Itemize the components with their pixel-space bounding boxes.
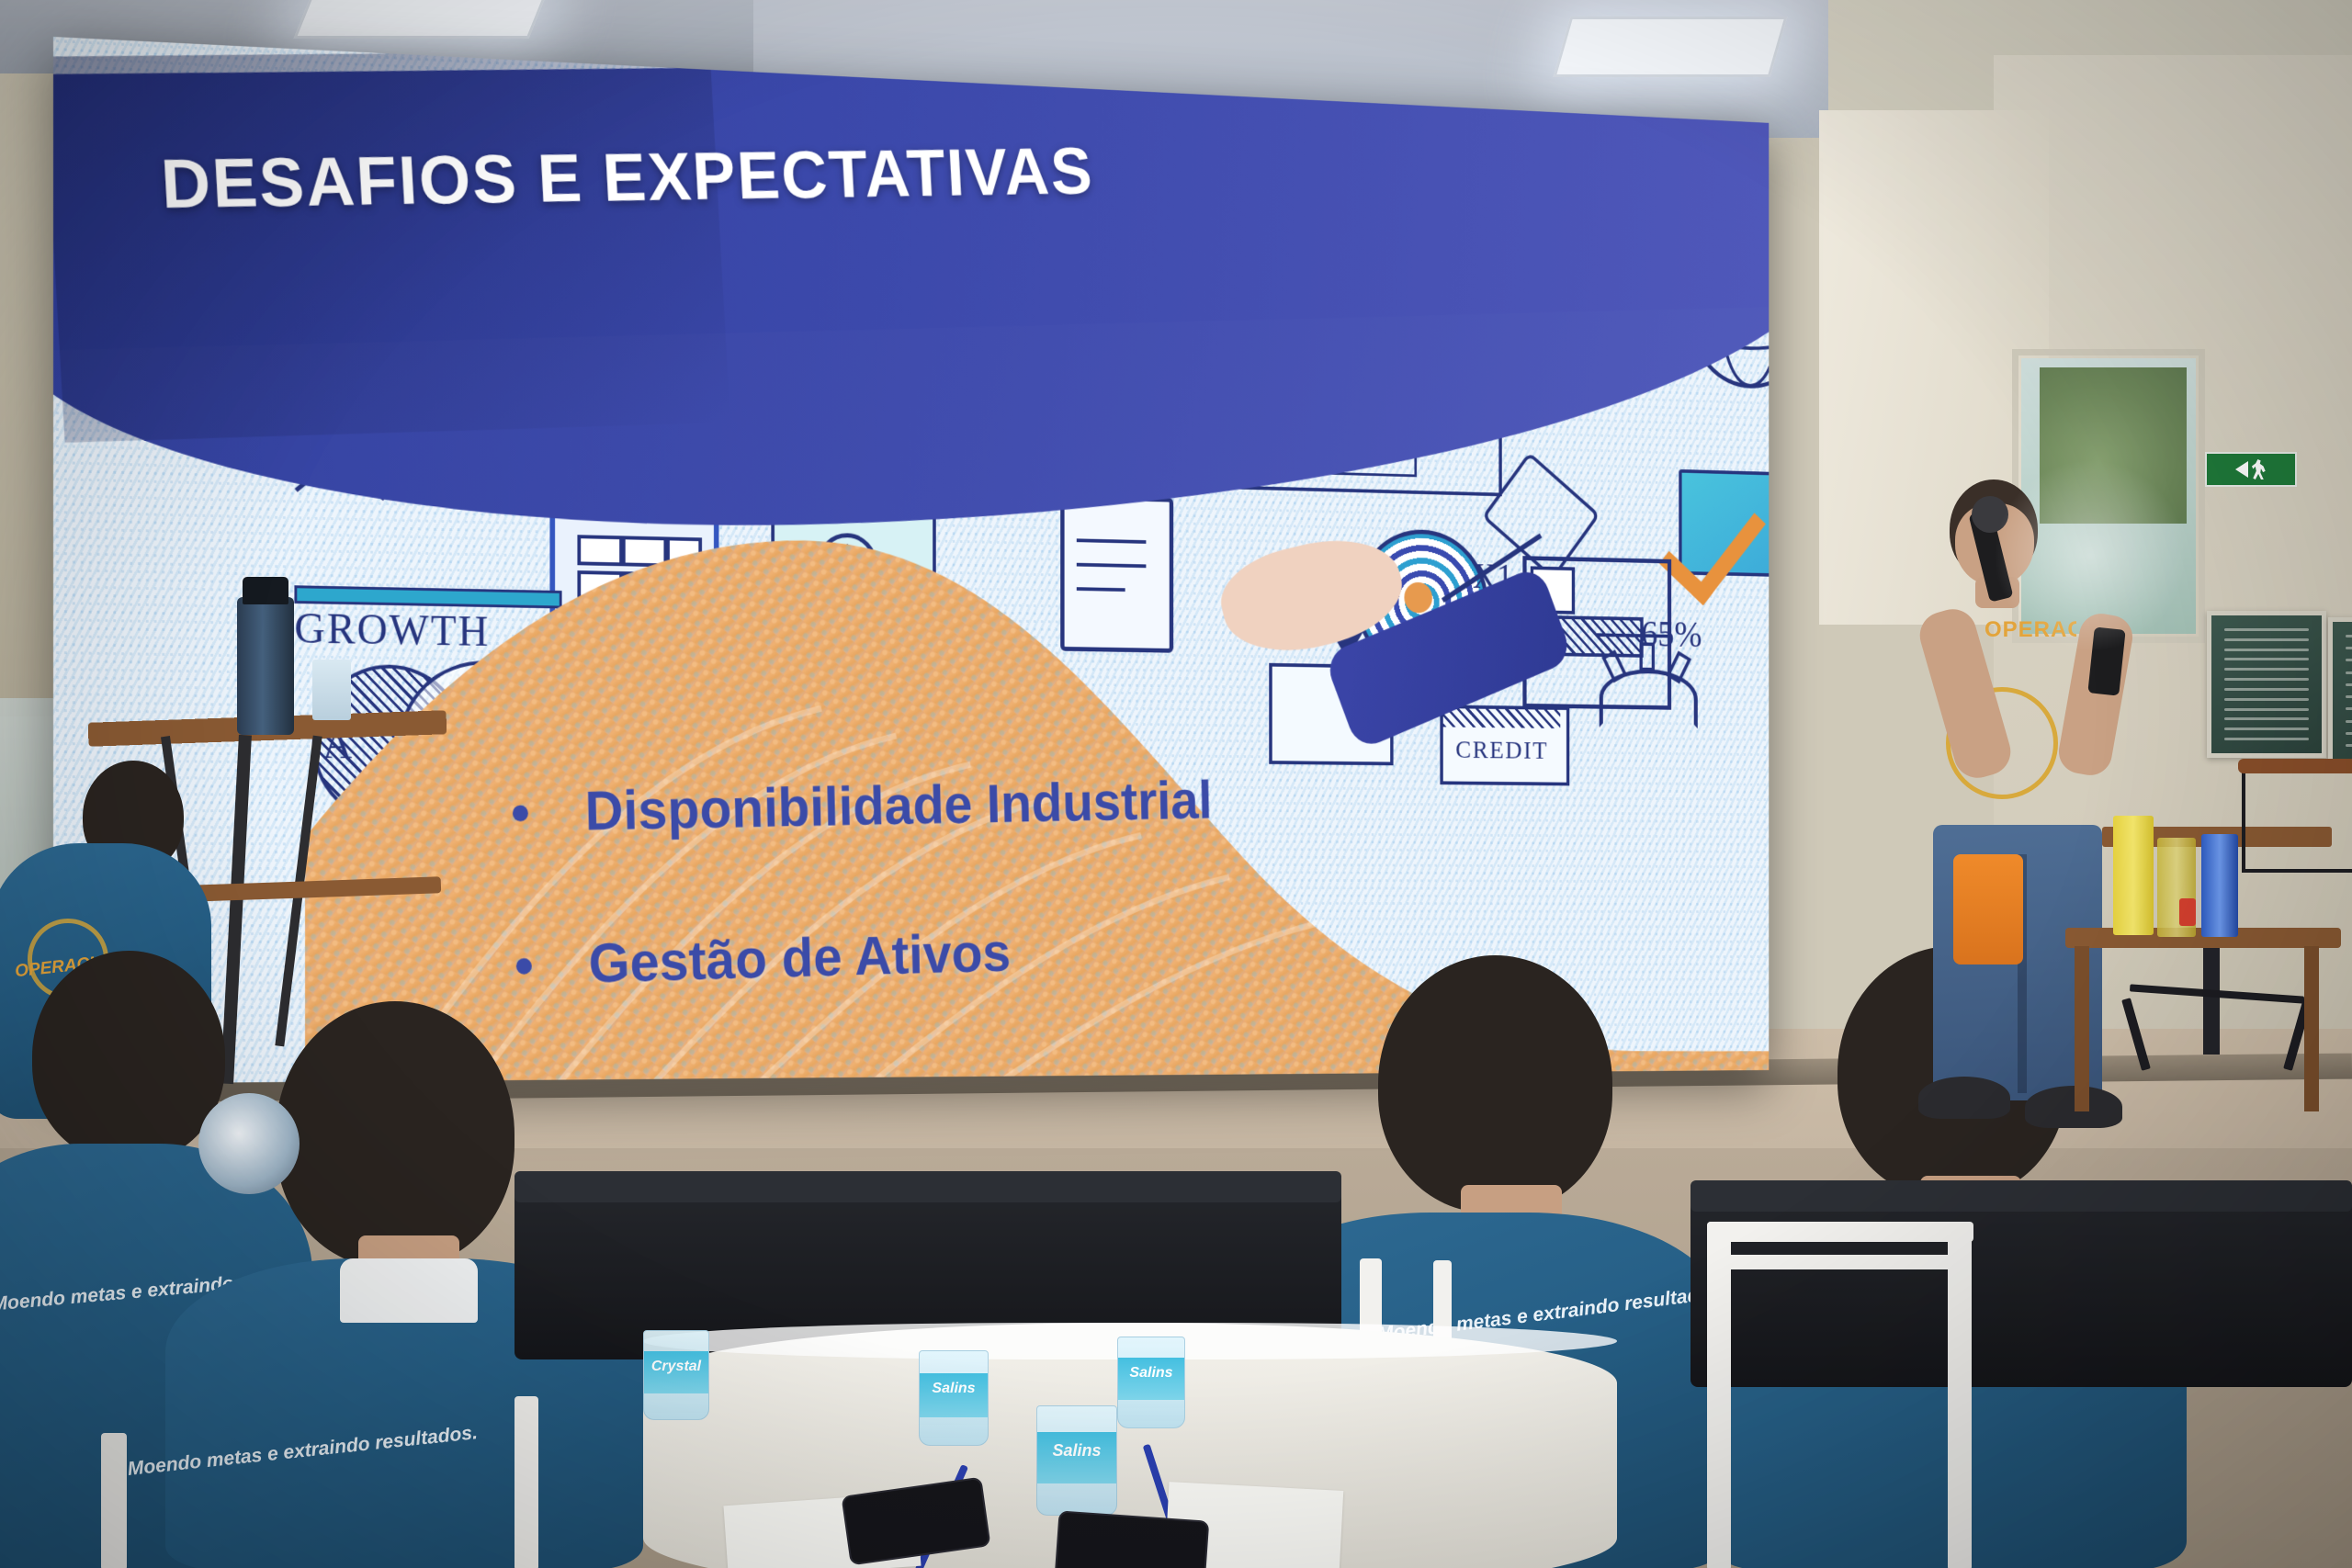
thermos <box>237 597 294 735</box>
head <box>32 951 225 1162</box>
exit-sign <box>2205 452 2297 487</box>
thermos-cap <box>243 577 288 604</box>
shoe <box>2025 1086 2122 1128</box>
cup-brand-label: Crystal <box>644 1359 708 1375</box>
wire-chair-back <box>2242 764 2352 873</box>
shirt-collar <box>340 1258 478 1323</box>
glass-container <box>312 660 351 720</box>
bench-leg <box>2304 946 2319 1111</box>
smartphone <box>1055 1510 1210 1568</box>
chair-top-rail <box>2238 759 2352 773</box>
ceiling-light-panel <box>1554 17 1788 77</box>
presentation-photo-scene: PROFIT X1 X2 65% CREDIT <box>0 0 2352 1568</box>
shoe <box>1918 1077 2010 1119</box>
head <box>276 1001 514 1268</box>
wall-plaque <box>2207 611 2326 758</box>
bullet-label: Gestão de Ativos <box>588 922 1012 996</box>
cup-brand-label: Salins <box>920 1381 988 1397</box>
wall-plaque <box>2328 617 2352 764</box>
bullet-label: Disponibilidade Industrial <box>584 770 1213 843</box>
ceiling-light-panel <box>293 0 548 39</box>
light-glow <box>1994 459 2187 652</box>
stage-light <box>198 1093 300 1194</box>
orange-equipment <box>1953 854 2023 964</box>
plaque-text-lines <box>2346 635 2352 747</box>
exit-arrow-icon <box>2235 461 2248 478</box>
blue-cup-stack <box>2201 834 2238 937</box>
drink-cup: Crystal <box>643 1330 709 1420</box>
bench-leg <box>2075 946 2089 1111</box>
slide-header-shading <box>53 51 730 443</box>
drink-cup: Salins <box>1117 1337 1185 1428</box>
cup-brand-label: Salins <box>1118 1365 1184 1382</box>
cup-brand-label: Salins <box>1037 1441 1116 1461</box>
bench-backrest <box>1690 1180 2352 1212</box>
red-object <box>2179 898 2196 926</box>
projection-screen: PROFIT X1 X2 65% CREDIT <box>53 37 1769 1084</box>
running-man-icon <box>2252 459 2267 479</box>
bench-backrest <box>514 1171 1341 1202</box>
drink-cup: Salins <box>1036 1405 1117 1516</box>
bullet-dot-icon <box>513 805 528 821</box>
yellow-cup-stack <box>2113 816 2154 935</box>
head <box>1378 955 1612 1213</box>
plaque-text-lines <box>2224 628 2309 740</box>
bullet-dot-icon <box>516 957 532 974</box>
slide-bullet-item: Gestão de Ativos <box>515 908 1574 998</box>
drink-cup: Salins <box>919 1350 989 1446</box>
